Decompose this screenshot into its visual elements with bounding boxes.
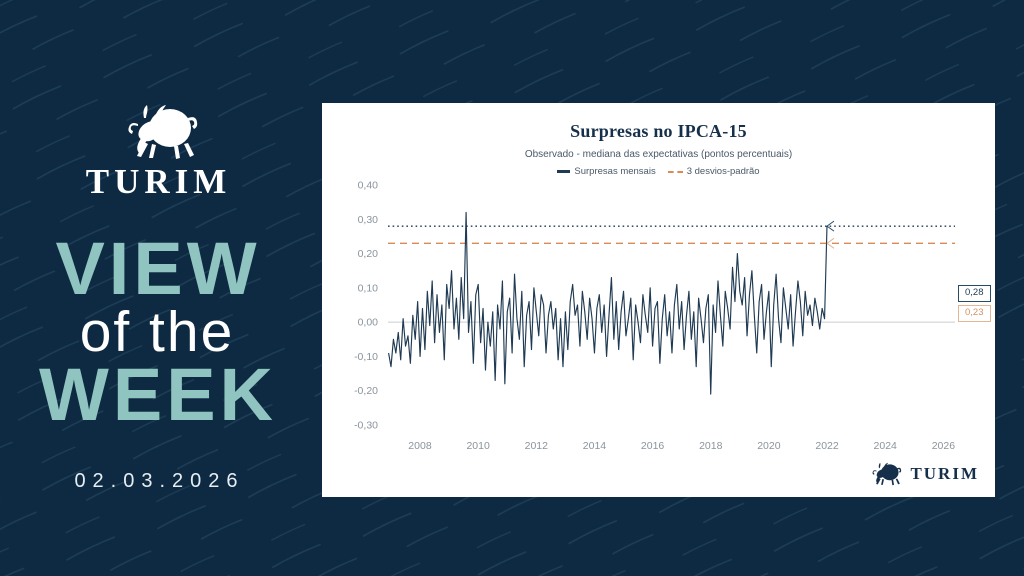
svg-text:2020: 2020 — [757, 440, 781, 452]
legend-swatch-solid-icon — [557, 170, 570, 173]
svg-text:0,20: 0,20 — [358, 248, 379, 260]
plot-svg: 0,400,300,200,100,00-0,10-0,20-0,3020082… — [322, 177, 995, 477]
svg-text:0,30: 0,30 — [358, 214, 379, 226]
chart-legend: Surpresas mensais 3 desvios-padrão — [322, 166, 995, 177]
legend-label-surpresas: Surpresas mensais — [574, 166, 655, 177]
bull-icon — [108, 104, 204, 160]
brand-logo: TURIM — [81, 104, 232, 199]
svg-text:0,00: 0,00 — [358, 317, 379, 329]
cover-date: 02.03.2026 — [67, 470, 244, 493]
svg-text:-0,20: -0,20 — [354, 385, 378, 397]
legend-item-desvios: 3 desvios-padrão — [668, 166, 760, 177]
svg-text:0,10: 0,10 — [358, 282, 379, 294]
svg-text:2012: 2012 — [525, 440, 549, 452]
svg-text:2018: 2018 — [699, 440, 723, 452]
svg-text:-0,30: -0,30 — [354, 420, 378, 432]
brand-wordmark: TURIM — [81, 164, 232, 199]
svg-text:2008: 2008 — [408, 440, 432, 452]
cover-headline: VIEW of the WEEK — [35, 235, 277, 430]
chart-subtitle: Observado - mediana das expectativas (po… — [322, 149, 995, 160]
svg-text:2016: 2016 — [641, 440, 665, 452]
svg-text:2014: 2014 — [583, 440, 607, 452]
legend-item-surpresas: Surpresas mensais — [557, 166, 655, 177]
chart-watermark: TURIM — [864, 461, 979, 487]
chart-title: Surpresas no IPCA-15 — [322, 121, 995, 142]
slide-root: TURIM VIEW of the WEEK 02.03.2026 Surpre… — [0, 0, 1024, 576]
headline-line-1: VIEW — [35, 235, 277, 304]
plot-area: 0,400,300,200,100,00-0,10-0,20-0,3020082… — [322, 177, 995, 477]
svg-text:2026: 2026 — [932, 440, 956, 452]
headline-line-2: of the — [35, 306, 277, 359]
svg-text:2022: 2022 — [815, 440, 839, 452]
callout-lower-value: 0,23 — [958, 305, 991, 322]
callout-upper-value: 0,28 — [958, 285, 991, 302]
svg-text:0,40: 0,40 — [358, 180, 379, 192]
svg-text:-0,10: -0,10 — [354, 351, 378, 363]
legend-swatch-dashed-icon — [668, 171, 683, 173]
chart-card: Surpresas no IPCA-15 Observado - mediana… — [322, 103, 995, 497]
bull-icon — [864, 461, 904, 487]
headline-line-3: WEEK — [35, 361, 277, 430]
cover-panel: TURIM VIEW of the WEEK 02.03.2026 — [0, 0, 312, 576]
chart-watermark-wordmark: TURIM — [910, 464, 979, 484]
svg-text:2010: 2010 — [466, 440, 490, 452]
legend-label-desvios: 3 desvios-padrão — [687, 166, 760, 177]
svg-text:2024: 2024 — [874, 440, 898, 452]
